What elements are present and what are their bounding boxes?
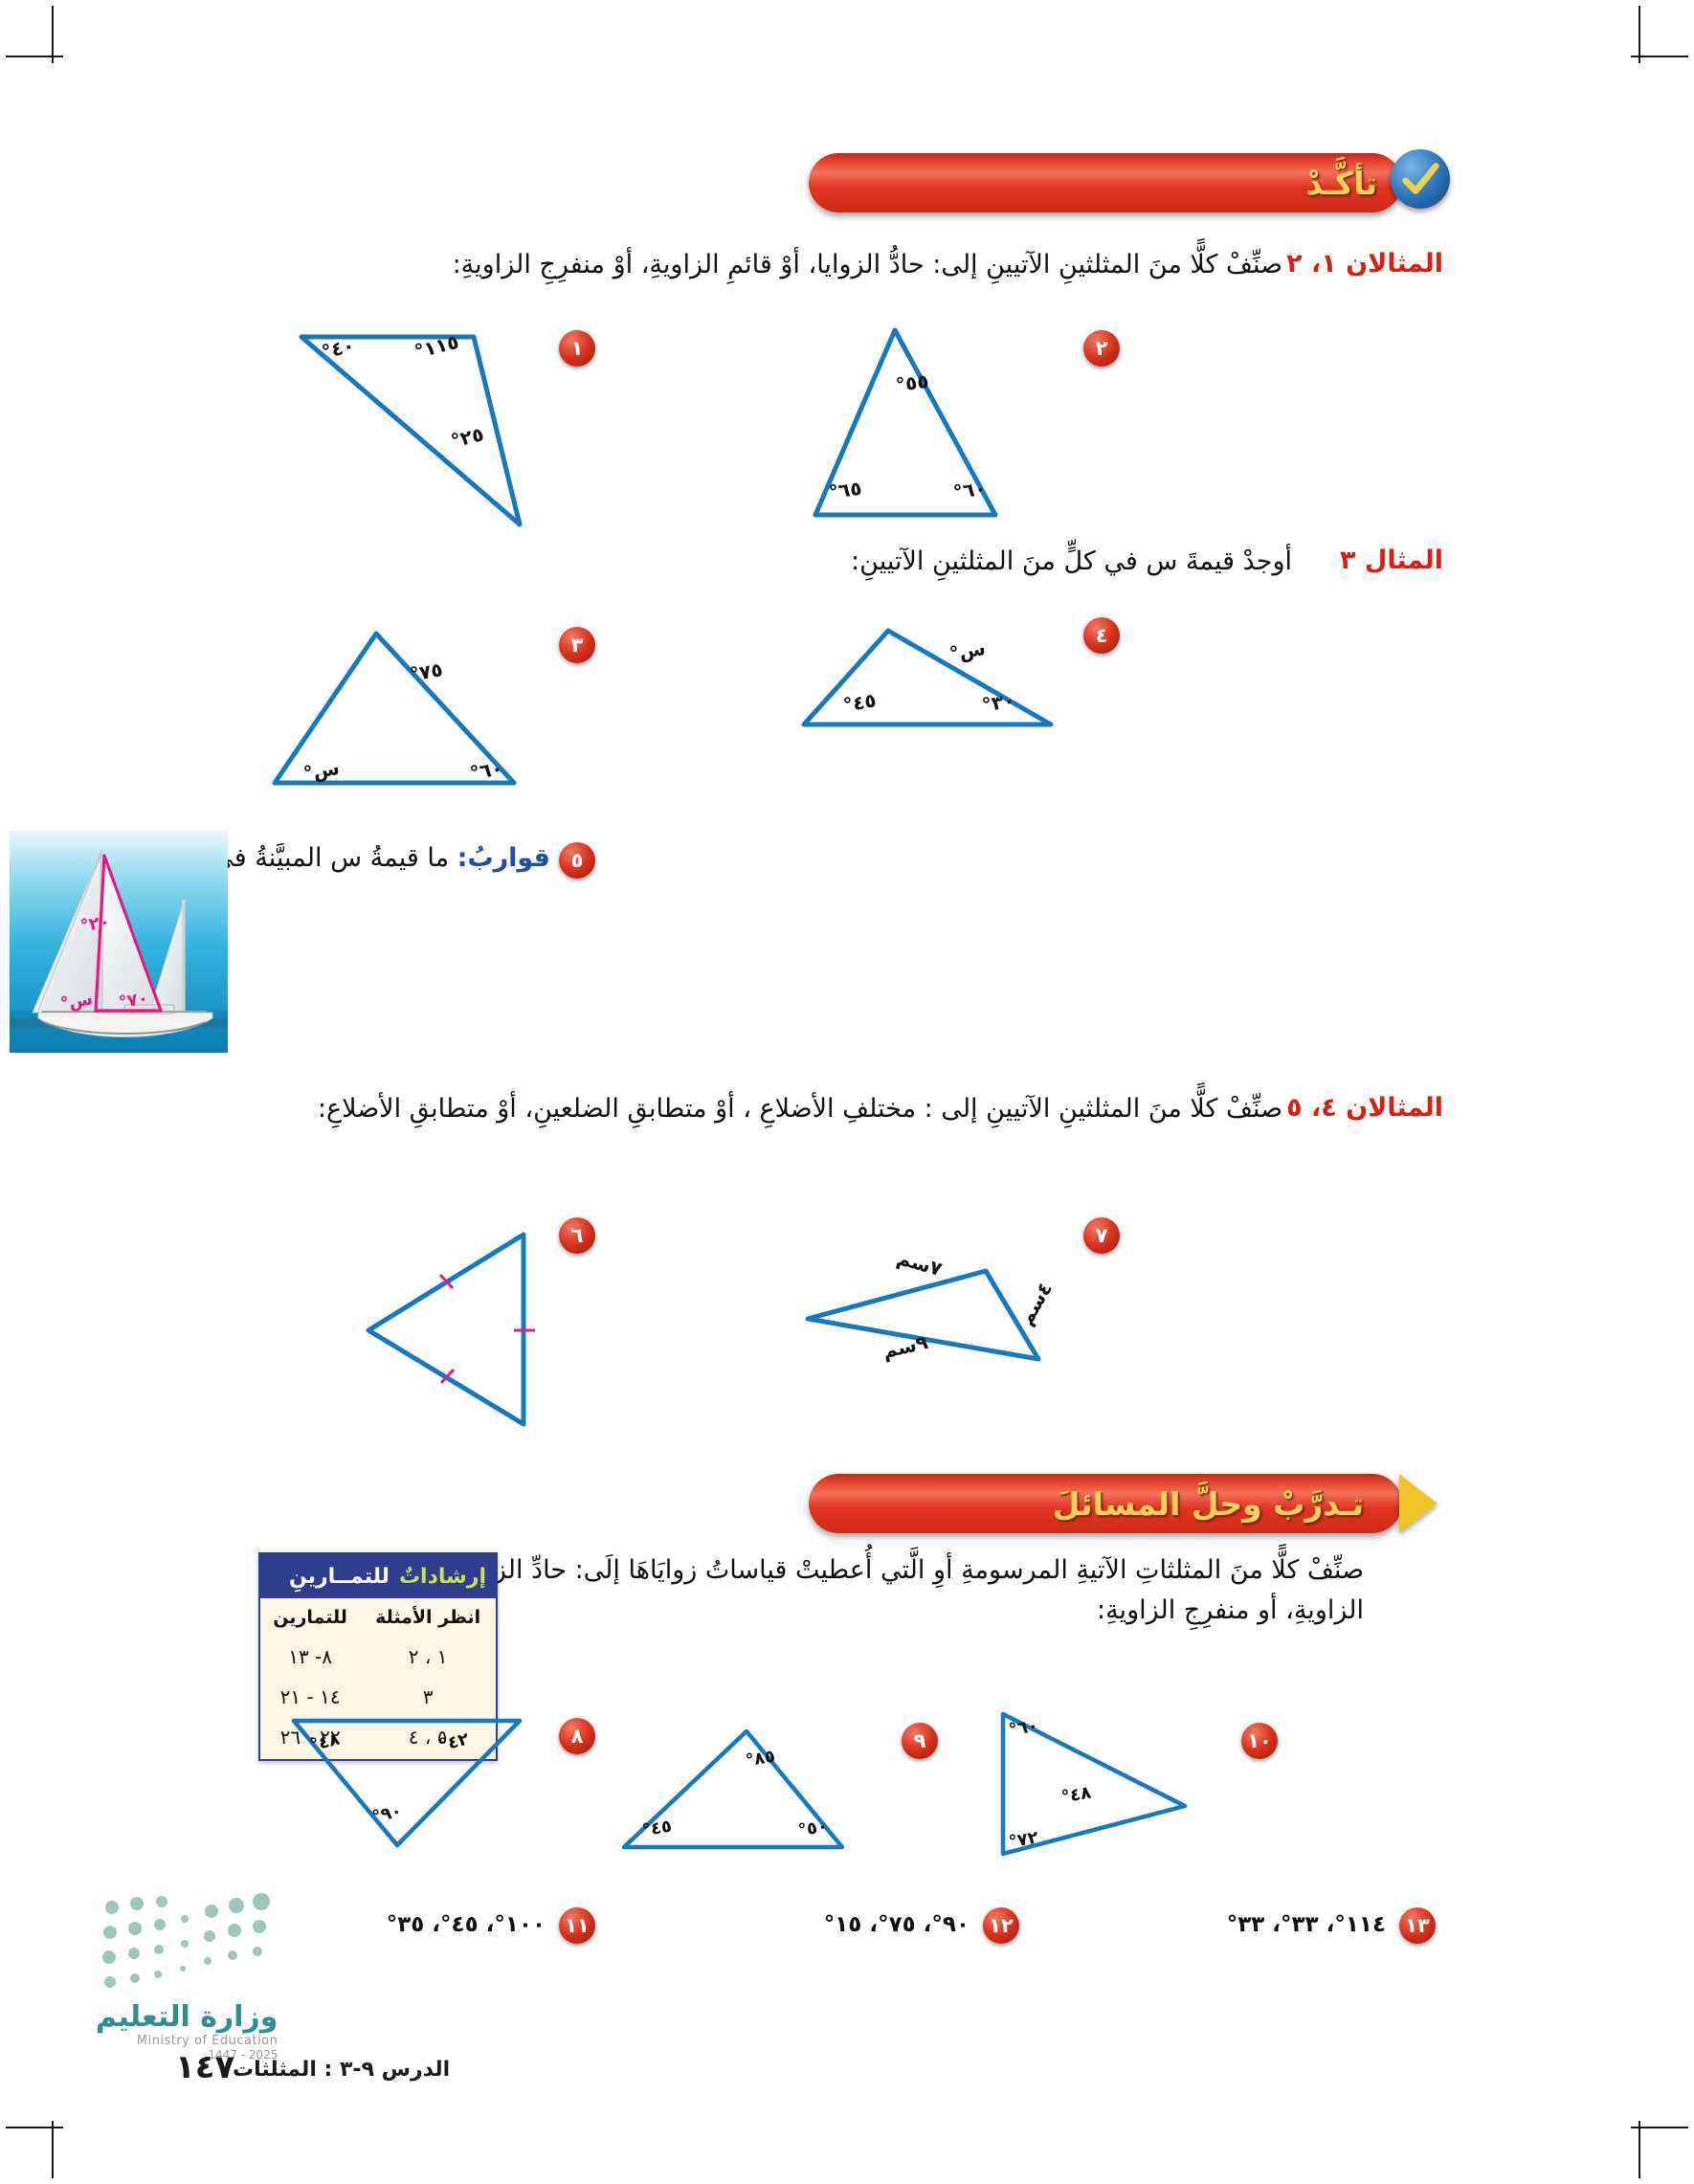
- exercise-number-6[interactable]: ٦: [559, 1217, 595, 1254]
- angle-label-2-c: ٦٠°: [951, 477, 987, 504]
- exercise-number-11[interactable]: ١١: [559, 1907, 595, 1944]
- group-prompt-examples-4-5: صنِّفْ كلًّا منَ المثلثينِ الآتيينِ إلى …: [258, 1089, 1282, 1129]
- triangle-figure-4: [794, 617, 1072, 742]
- exercise-number-12[interactable]: ١٢: [983, 1907, 1019, 1944]
- exercise-number-5[interactable]: ٥: [559, 842, 595, 879]
- crop-mark-tr-v: [1638, 6, 1640, 63]
- group-label-examples-4-5: المثالان ٤، ٥: [1286, 1093, 1443, 1123]
- crop-mark-br-v: [1638, 2121, 1640, 2178]
- lesson-title-footer: الدرس ٩-٣ : المثلثات: [233, 2058, 450, 2082]
- exercise-number-8[interactable]: ٨: [559, 1718, 595, 1754]
- hints-cell-exercises-1: ٨- ١٣: [260, 1637, 360, 1677]
- textbook-page: تأكَّـدْ المثالان ١، ٢ صنِّفْ كلًّا منَ …: [0, 0, 1694, 2184]
- exercise-5-topic: قواربُ:: [457, 843, 550, 873]
- section-banner-practice: تـدرَّبْ وحلَّ المسائلَ: [809, 1474, 1402, 1533]
- crop-mark-bl-v: [52, 2121, 54, 2178]
- crop-mark-bl-h: [6, 2127, 63, 2128]
- hints-table-header: إرشاداتٌ للتمــارينِ: [260, 1554, 496, 1598]
- exercise-11-values: ١٠٠°، ٤٥°، ٣٥°: [387, 1912, 546, 1937]
- exercise-13-values: ١١٤°، ٣٣°، ٣٣°: [1227, 1912, 1386, 1937]
- decorative-dots: [100, 1890, 321, 2005]
- exercise-number-3[interactable]: ٣: [559, 627, 595, 663]
- exercise-number-1[interactable]: ١: [559, 330, 595, 367]
- gold-arrow-icon: [1399, 1474, 1438, 1533]
- hints-table-head-row: انظر الأمثلة للتمارين: [260, 1598, 496, 1637]
- section-banner-practice-label: تـدرَّبْ وحلَّ المسائلَ: [1053, 1485, 1364, 1523]
- hints-col-examples: انظر الأمثلة: [360, 1598, 496, 1637]
- hints-title-2: للتمــارينِ: [289, 1565, 390, 1589]
- exercise-number-10[interactable]: ١٠: [1241, 1723, 1278, 1759]
- hints-title-1: إرشاداتٌ: [399, 1565, 486, 1589]
- exercise-number-13[interactable]: ١٣: [1399, 1907, 1436, 1944]
- check-badge-icon: [1391, 149, 1450, 209]
- triangle-figure-8: [263, 1704, 550, 1857]
- exercise-12-values: ٩٠°، ٧٥°، ١٥°: [824, 1912, 970, 1937]
- exercise-number-7[interactable]: ٧: [1083, 1217, 1120, 1254]
- crop-mark-tl-v: [52, 6, 54, 63]
- angle-label-2-b: ٦٥°: [827, 477, 862, 504]
- page-number: ١٤٧: [175, 2048, 234, 2086]
- hints-col-exercises: للتمارين: [260, 1598, 360, 1637]
- section-banner-check-label: تأكَّـدْ: [1306, 165, 1377, 202]
- table-row: ١ ، ٢ ٨- ١٣: [260, 1637, 496, 1677]
- section-banner-check: تأكَّـدْ: [809, 153, 1402, 212]
- ministry-name-en: Ministry of Education: [96, 2034, 278, 2048]
- crop-mark-br-h: [1631, 2127, 1688, 2128]
- triangle-figure-2: [775, 316, 1062, 536]
- group-prompt-example-3: أوجدْ قيمةَ س في كلٍّ منَ المثلثينِ الآت…: [258, 542, 1292, 582]
- group-label-examples-1-2: المثالان ١، ٢: [1286, 249, 1443, 279]
- triangle-figure-6: [311, 1225, 550, 1436]
- exercise-number-9[interactable]: ٩: [902, 1723, 938, 1759]
- triangle-figure-9: [613, 1718, 890, 1861]
- ministry-name-ar: وزارة التعليم: [96, 2000, 278, 2034]
- exercise-number-2[interactable]: ٢: [1083, 330, 1120, 367]
- angle-label-2-a: ٥٥°: [894, 369, 929, 397]
- group-prompt-examples-1-2: صنِّفْ كلًّا منَ المثلثينِ الآتيينِ إلى:…: [258, 245, 1282, 285]
- triangle-figure-1: [263, 316, 550, 546]
- crop-mark-tr-h: [1631, 56, 1688, 57]
- crop-mark-tl-h: [6, 56, 63, 57]
- group-label-example-3: المثال ٣: [1340, 546, 1443, 575]
- hints-cell-examples-1: ١ ، ٢: [360, 1637, 496, 1677]
- sailboat-photo: [10, 831, 228, 1053]
- exercise-number-4[interactable]: ٤: [1083, 617, 1120, 654]
